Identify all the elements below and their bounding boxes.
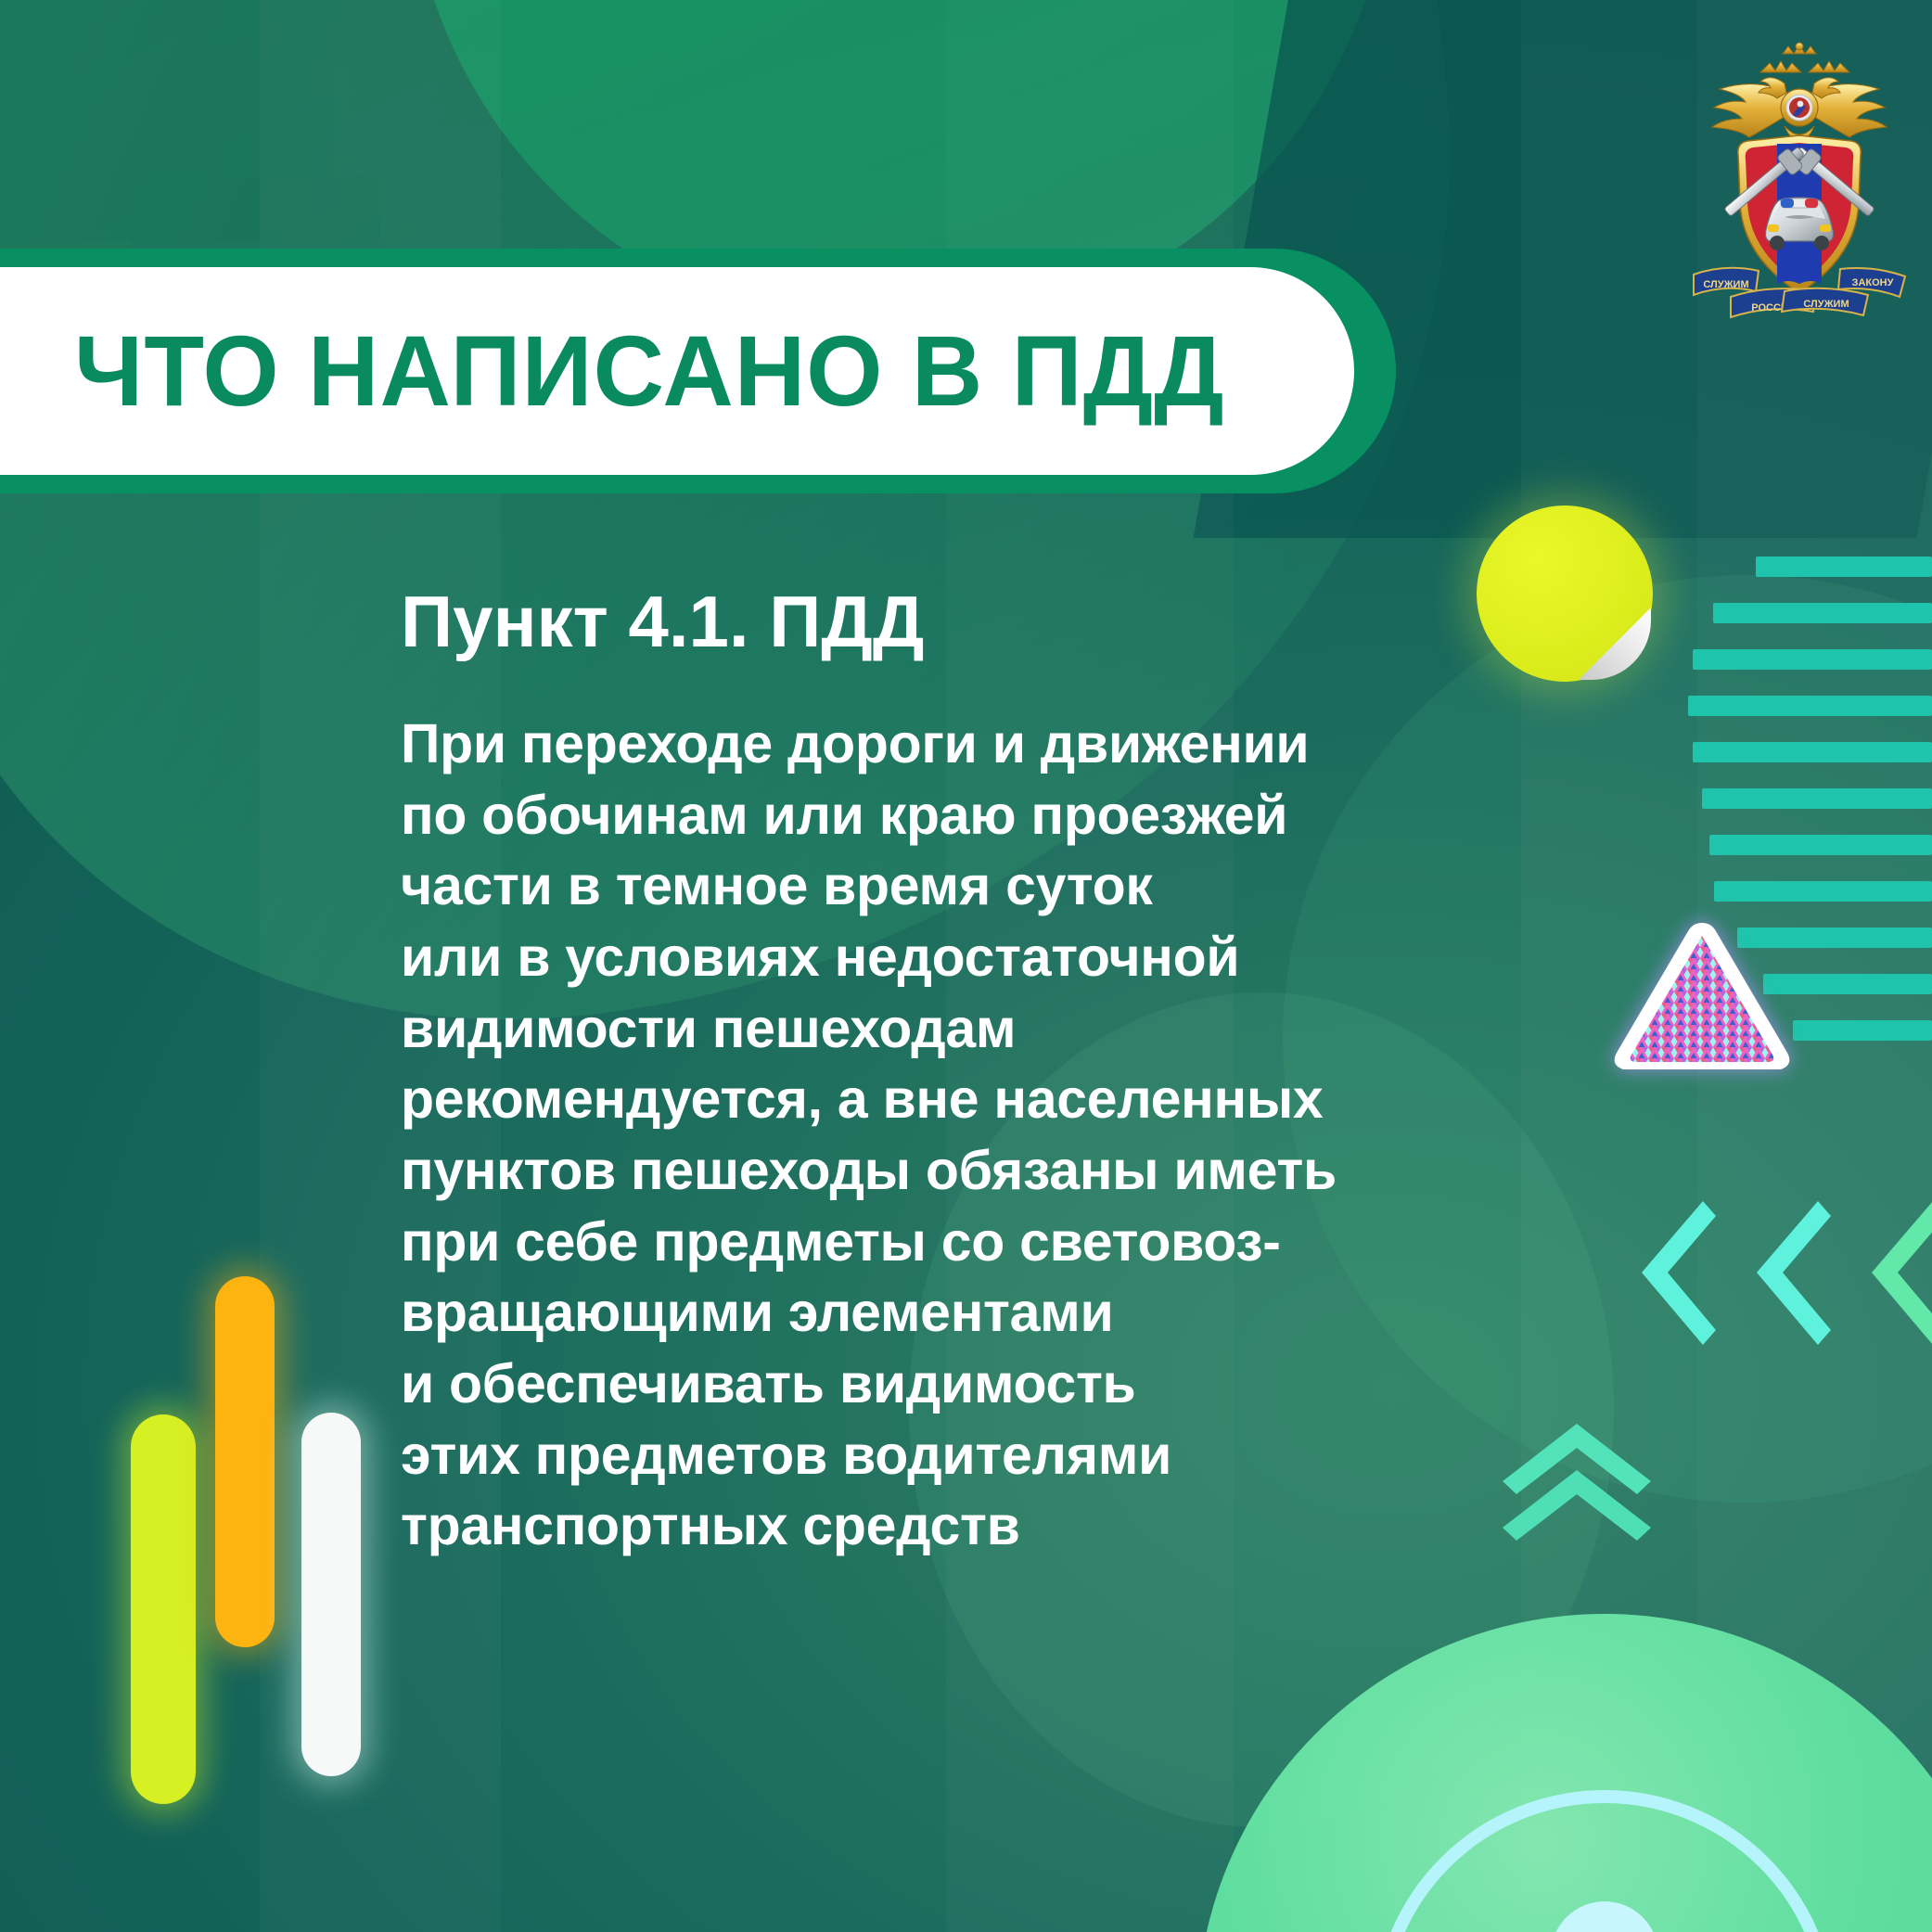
poster-canvas: СЛУЖИМ РОССИИ СЛУЖИМ ЗАКОНУ ЧТО НАПИСАНО… [0, 0, 1932, 1932]
sticker-peel-corner [1579, 608, 1651, 680]
bg-bottom-dot [1551, 1901, 1658, 1932]
body-line: При переходе дороги и движении [401, 709, 1542, 780]
body-line: рекомендуется, а вне населенных [401, 1064, 1542, 1135]
bg-bottom-ring [1373, 1790, 1836, 1932]
reflective-strip-amber [215, 1276, 275, 1647]
reflective-triangle-sign-icon [1609, 914, 1795, 1079]
reflective-strip-white [301, 1413, 361, 1776]
body-line: вращающими элементами [401, 1277, 1542, 1349]
emblem-ribbon-center-right: СЛУЖИМ [1803, 299, 1849, 310]
body-paragraph: При переходе дороги и движении по обочин… [401, 709, 1542, 1562]
body-line: транспортных средств [401, 1491, 1542, 1562]
body-line: по обочинам или краю проезжей [401, 780, 1542, 851]
chevron-left-icon [1642, 1201, 1716, 1345]
reflective-strip-lime [131, 1414, 196, 1804]
title-banner: ЧТО НАПИСАНО В ПДД [0, 249, 1396, 493]
body-line: при себе предметы со световоз- [401, 1207, 1542, 1278]
chevron-left-group [1642, 1201, 1932, 1345]
body-line: части в темное время суток [401, 851, 1542, 922]
bg-square-top-left [0, 0, 334, 241]
chevron-left-icon [1872, 1201, 1932, 1345]
chevron-left-icon [1757, 1201, 1831, 1345]
bg-bottom-circle [1196, 1614, 1932, 1932]
body-line: этих предметов водителями [401, 1420, 1542, 1491]
title-banner-inner: ЧТО НАПИСАНО В ПДД [0, 267, 1354, 475]
content-block: Пункт 4.1. ПДД При переходе дороги и дви… [401, 584, 1542, 1562]
body-line: пунктов пешеходы обязаны иметь [401, 1135, 1542, 1207]
section-subtitle: Пункт 4.1. ПДД [401, 584, 1542, 660]
emblem-ribbon-left: СЛУЖИМ [1703, 279, 1748, 290]
gibdd-emblem: СЛУЖИМ РОССИИ СЛУЖИМ ЗАКОНУ [1688, 35, 1911, 332]
body-line: и обеспечивать видимость [401, 1349, 1542, 1420]
emblem-ribbon-right: ЗАКОНУ [1852, 277, 1894, 288]
body-line: видимости пешеходам [401, 993, 1542, 1065]
body-line: или в условиях недостаточной [401, 922, 1542, 993]
page-title: ЧТО НАПИСАНО В ПДД [74, 321, 1224, 421]
